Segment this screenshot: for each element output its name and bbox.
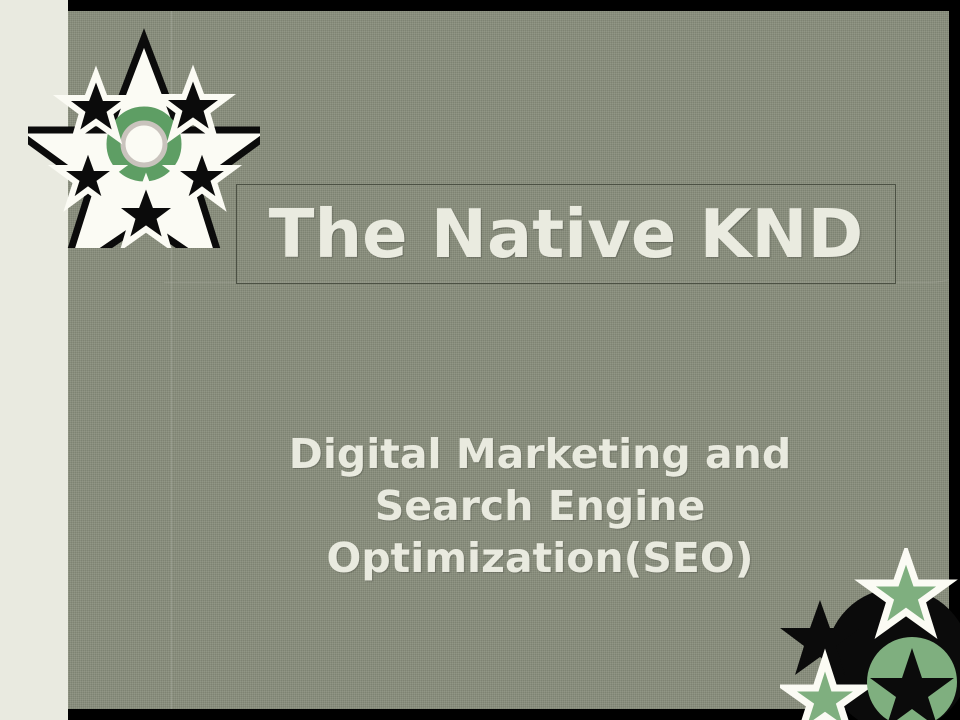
top-black-bar <box>68 0 960 11</box>
slide-title: The Native KND <box>269 201 864 268</box>
subtitle-line-2: Search Engine <box>190 480 890 532</box>
star-badge-decoration <box>28 26 260 248</box>
presentation-slide: The Native KND Digital Marketing and Sea… <box>0 0 960 720</box>
subtitle-line-1: Digital Marketing and <box>190 428 890 480</box>
title-box: The Native KND <box>236 184 896 284</box>
slide-subtitle: Digital Marketing and Search Engine Opti… <box>190 428 890 584</box>
subtitle-line-3: Optimization(SEO) <box>190 532 890 584</box>
